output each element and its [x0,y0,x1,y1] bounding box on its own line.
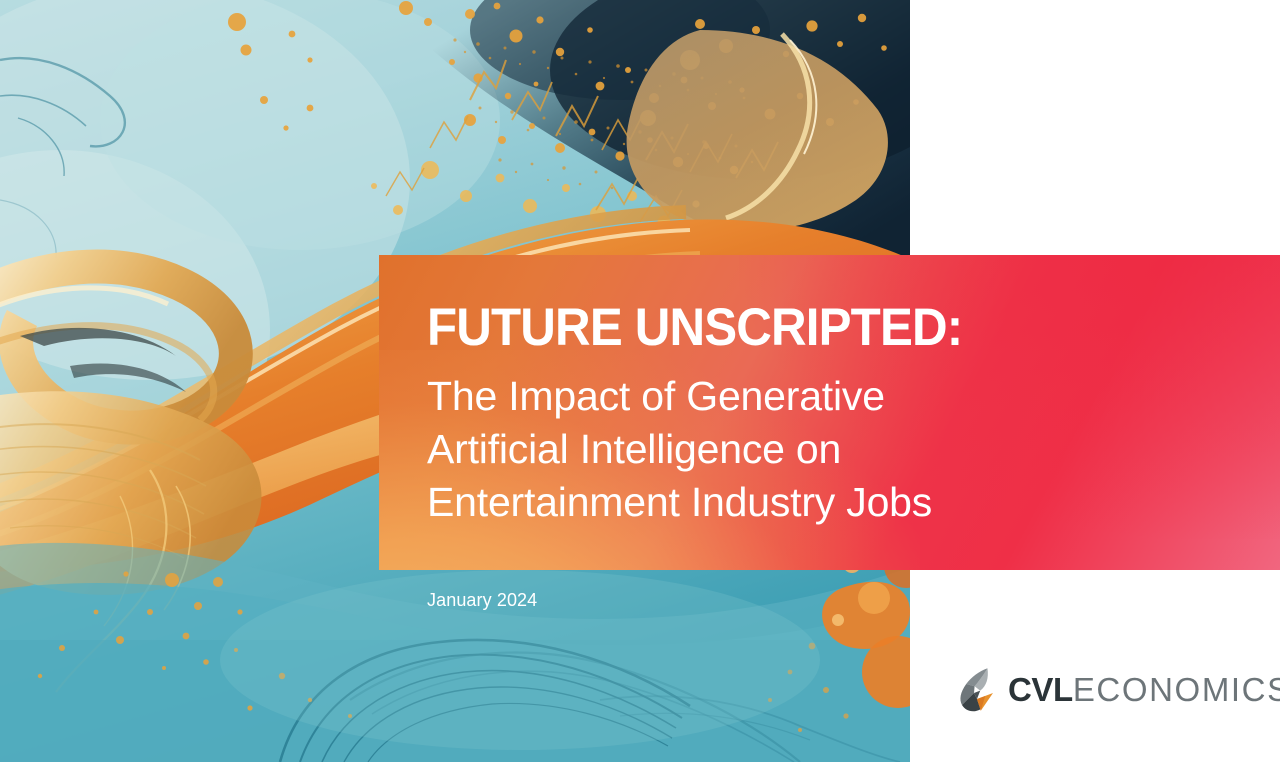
logo-word-cvl: CVL [1008,671,1073,708]
subtitle-line-1: The Impact of Generative [427,370,1280,423]
publication-date: January 2024 [427,589,537,611]
logo-word-economics: ECONOMICS [1073,671,1280,708]
title-banner-content: FUTURE UNSCRIPTED: The Impact of Generat… [379,255,1280,529]
cvl-leaf-mark-icon [955,666,997,714]
subtitle-line-3: Entertainment Industry Jobs [427,476,1280,529]
cvl-economics-logo: CVLECONOMICS [955,666,1280,714]
title-banner: FUTURE UNSCRIPTED: The Impact of Generat… [379,255,1280,570]
subtitle-line-2: Artificial Intelligence on [427,423,1280,476]
page-subtitle: The Impact of Generative Artificial Inte… [427,370,1280,529]
report-cover-page: FUTURE UNSCRIPTED: The Impact of Generat… [0,0,1280,762]
logo-wordmark: CVLECONOMICS [1008,673,1280,706]
page-title: FUTURE UNSCRIPTED: [427,301,1220,354]
